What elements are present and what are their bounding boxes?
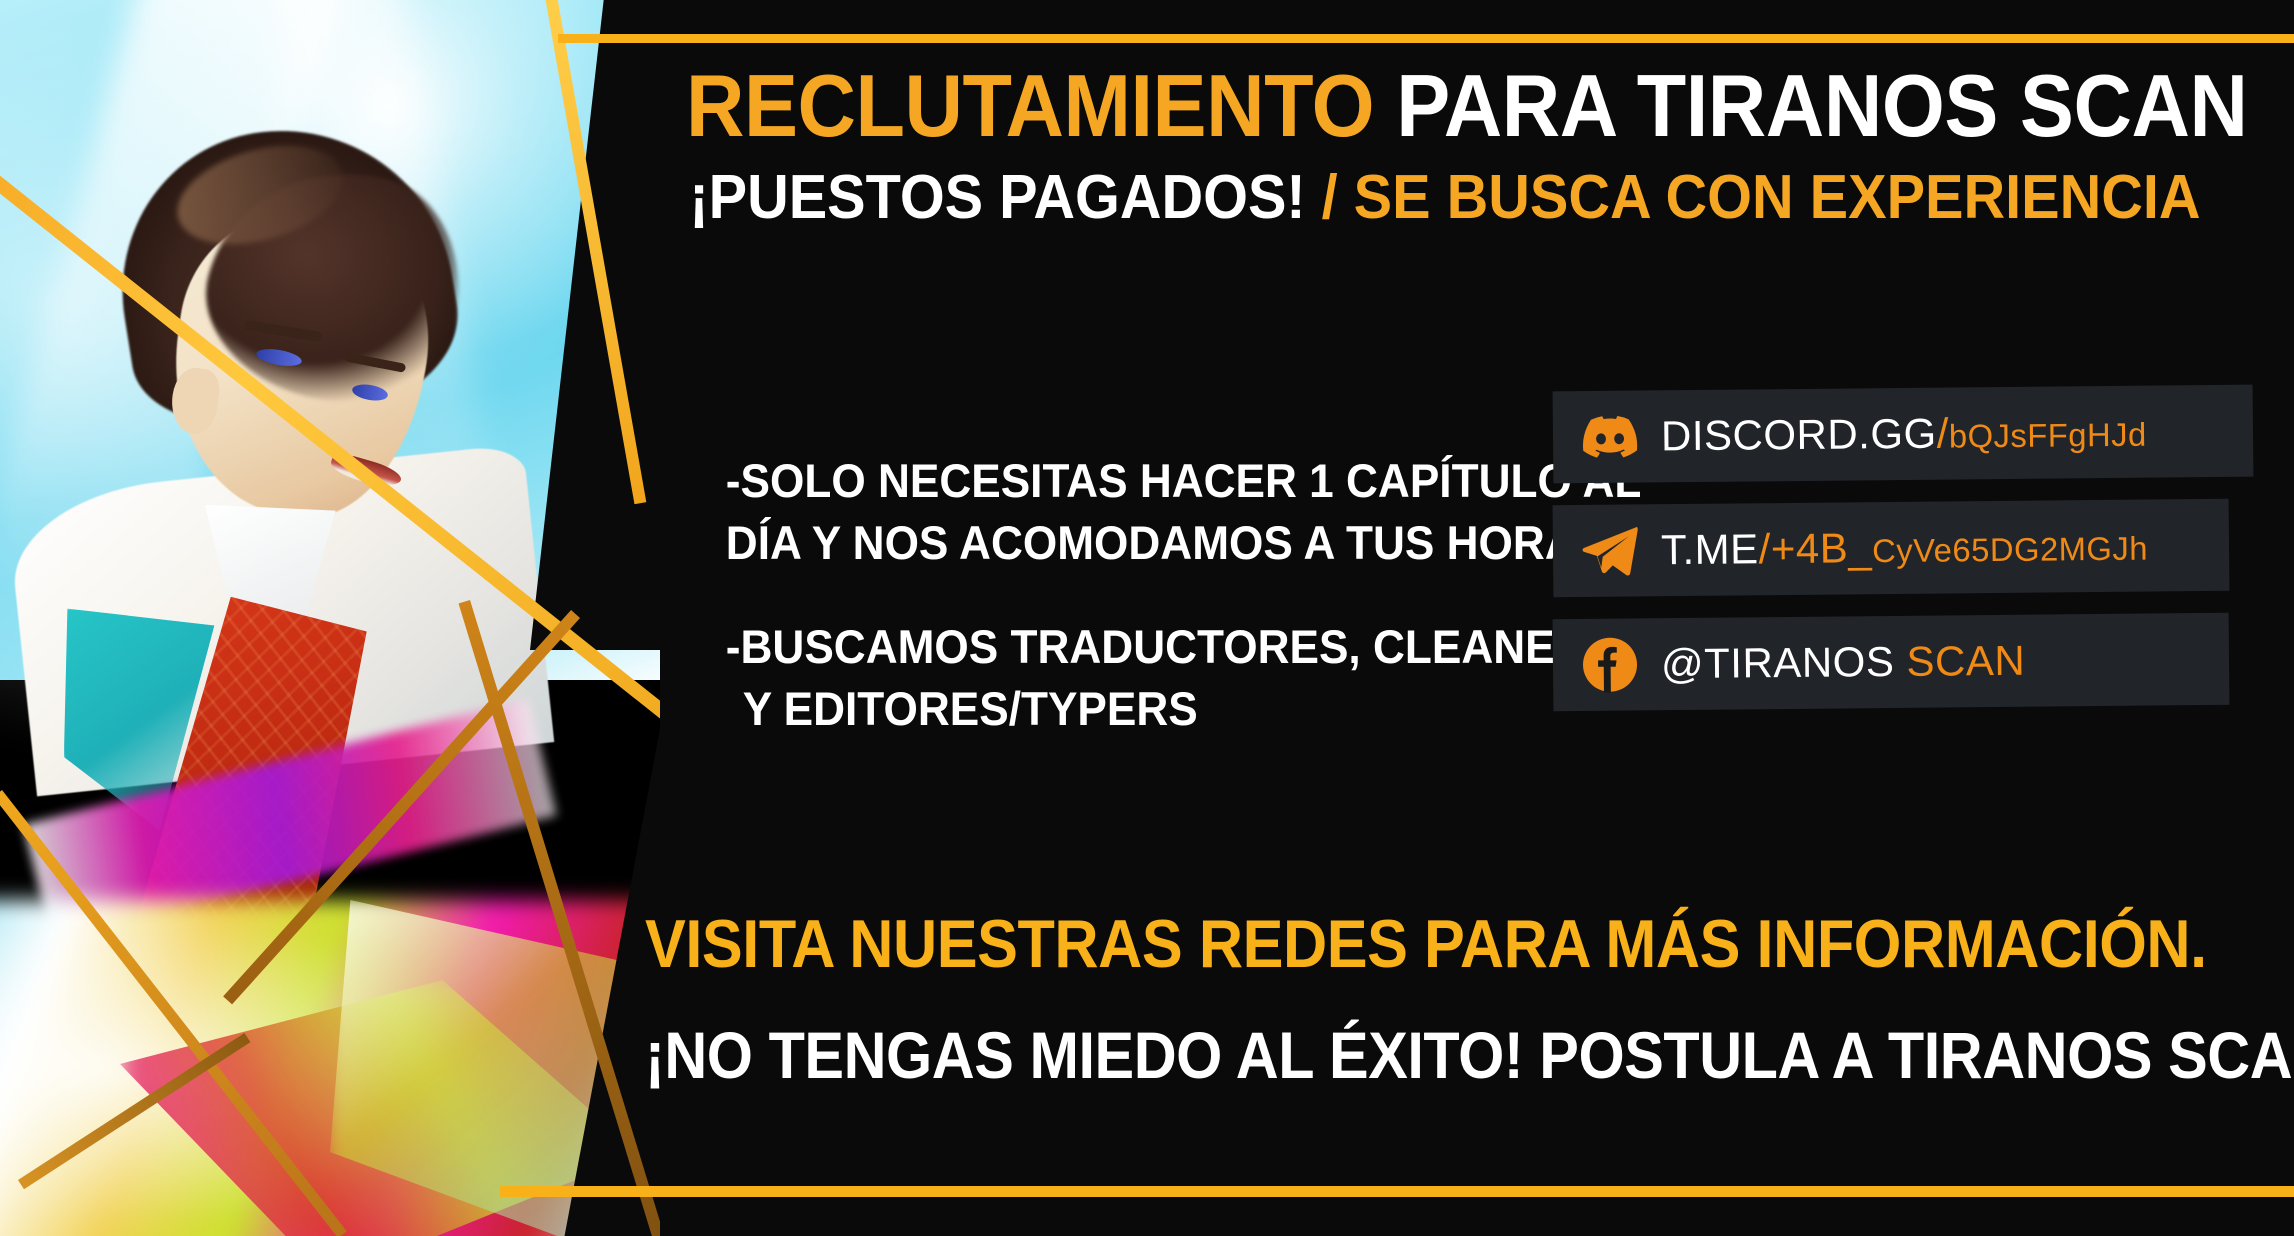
discord-icon	[1581, 408, 1640, 467]
title-rest: PARA TIRANOS SCAN	[1396, 56, 2247, 155]
requirements-text: -SOLO NECESITAS HACER 1 CAPÍTULO AL DÍA …	[726, 450, 1534, 740]
telegram-separator: /+4B_	[1758, 524, 1872, 572]
facebook-link-text: @TIRANOS SCAN	[1661, 637, 2026, 688]
discord-separator: /	[1936, 410, 1949, 457]
requirement-line: -SOLO NECESITAS HACER 1 CAPÍTULO AL	[726, 450, 1534, 512]
telegram-link-text: T.ME/+4B_CyVe65DG2MGJh	[1661, 522, 2148, 575]
telegram-icon	[1581, 521, 1640, 580]
contact-card-discord[interactable]: DISCORD.GG/bQJsFFgHJd	[1553, 385, 2254, 484]
bottom-gold-rule	[500, 1186, 2294, 1197]
facebook-handle-suffix: SCAN	[1906, 637, 2025, 685]
page-title: RECLUTAMIENTO PARA TIRANOS SCAN	[686, 60, 2204, 152]
subtitle-paid-positions: ¡PUESTOS PAGADOS!	[689, 163, 1305, 232]
subtitle: ¡PUESTOS PAGADOS! / SE BUSCA CON EXPERIE…	[678, 164, 2213, 232]
requirement-line: DÍA Y NOS ACOMODAMOS A TUS HORARIOS	[726, 512, 1534, 574]
discord-link-text: DISCORD.GG/bQJsFFgHJd	[1661, 408, 2147, 461]
contact-links-list: DISCORD.GG/bQJsFFgHJd T.ME/+4B_CyVe65DG2…	[1553, 388, 2253, 730]
facebook-icon	[1581, 635, 1640, 694]
requirement-line: -BUSCAMOS TRADUCTORES, CLEANER	[726, 616, 1534, 678]
telegram-domain: T.ME	[1661, 525, 1759, 573]
call-to-action-block: VISITA NUESTRAS REDES PARA MÁS INFORMACI…	[560, 905, 2260, 1093]
headline-block: RECLUTAMIENTO PARA TIRANOS SCAN ¡PUESTOS…	[620, 60, 2270, 232]
top-gold-rule	[558, 34, 2294, 43]
telegram-invite-code: CyVe65DG2MGJh	[1872, 530, 2148, 570]
recruitment-banner: RECLUTAMIENTO PARA TIRANOS SCAN ¡PUESTOS…	[0, 0, 2294, 1236]
title-highlight: RECLUTAMIENTO	[686, 56, 1374, 155]
discord-domain: DISCORD.GG	[1661, 410, 1937, 460]
cta-apply: ¡NO TENGAS MIEDO AL ÉXITO! POSTULA A TIR…	[645, 1017, 2175, 1093]
requirement-paragraph: -BUSCAMOS TRADUCTORES, CLEANER Y EDITORE…	[726, 616, 1534, 740]
contact-card-telegram[interactable]: T.ME/+4B_CyVe65DG2MGJh	[1553, 499, 2230, 597]
subtitle-experience: / SE BUSCA CON EXPERIENCIA	[1322, 163, 2201, 232]
cta-visit-networks: VISITA NUESTRAS REDES PARA MÁS INFORMACI…	[645, 905, 2175, 983]
requirement-paragraph: -SOLO NECESITAS HACER 1 CAPÍTULO AL DÍA …	[726, 450, 1534, 574]
contact-card-facebook[interactable]: @TIRANOS SCAN	[1553, 613, 2230, 711]
facebook-separator	[1894, 638, 1907, 685]
discord-invite-code: bQJsFFgHJd	[1949, 416, 2147, 455]
requirement-line: Y EDITORES/TYPERS	[726, 678, 1534, 740]
facebook-handle: @TIRANOS	[1661, 638, 1895, 687]
